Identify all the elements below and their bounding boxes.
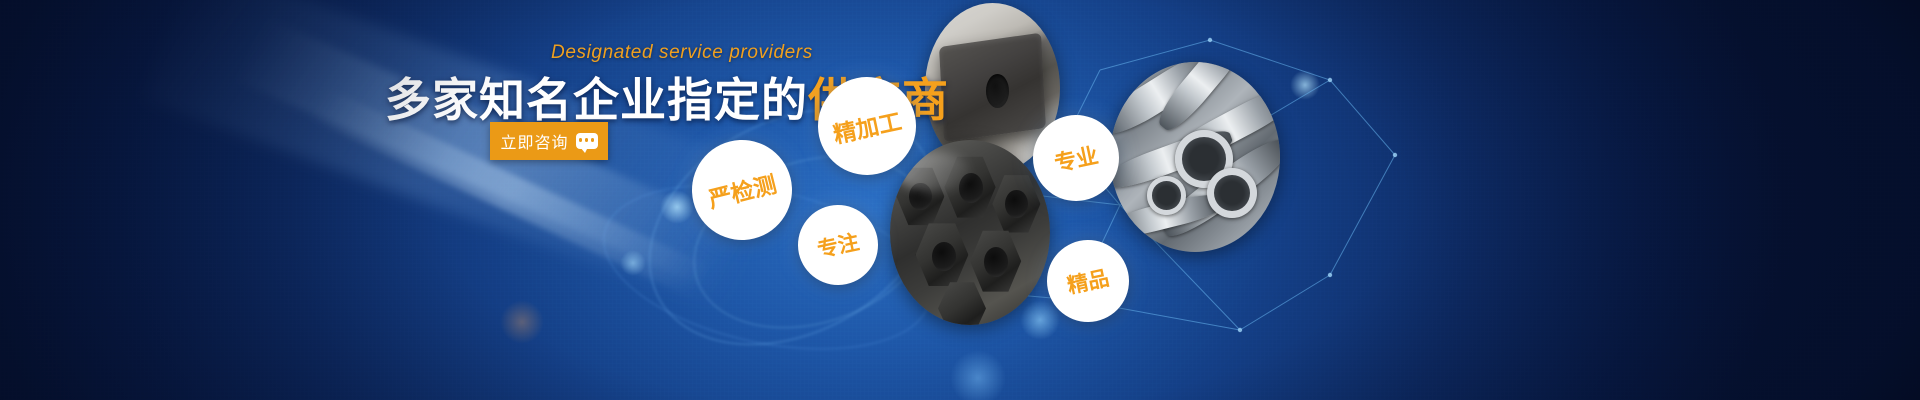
chat-bubble-icon xyxy=(576,133,598,149)
keyword-label: 严检测 xyxy=(704,165,779,215)
keyword-label: 精品 xyxy=(1064,262,1111,300)
steel-tube-ring xyxy=(1207,168,1257,218)
keyword-label: 专注 xyxy=(814,226,861,264)
hex-billet-bore xyxy=(932,242,956,272)
photo-steel-tubes-image xyxy=(1110,62,1280,252)
keyword-label: 精加工 xyxy=(830,102,905,150)
headline-white-part: 多家知名企业指定的 xyxy=(385,74,808,126)
eyebrow-tagline: Designated service providers xyxy=(551,42,813,64)
hex-billet xyxy=(938,281,986,325)
chat-bubble-dots xyxy=(576,138,598,142)
photo-steel-tubes xyxy=(1110,62,1280,252)
hex-billet-bore xyxy=(1005,190,1027,218)
bokeh-glow-5 xyxy=(950,350,1006,400)
consult-now-button[interactable]: 立即咨询 xyxy=(490,122,608,160)
keyword-label: 专业 xyxy=(1051,138,1101,178)
hex-billet-highlight xyxy=(896,151,970,192)
photo-hex-billets-image xyxy=(890,140,1050,325)
photo-hex-billets xyxy=(890,140,1050,325)
bokeh-glow-7 xyxy=(1290,70,1320,100)
hero-banner: Designated service providers 多家知名企业指定的供应… xyxy=(0,0,1920,400)
steel-plate-hole xyxy=(986,74,1009,108)
steel-tube-ring xyxy=(1147,176,1186,215)
consult-now-label: 立即咨询 xyxy=(500,129,568,153)
